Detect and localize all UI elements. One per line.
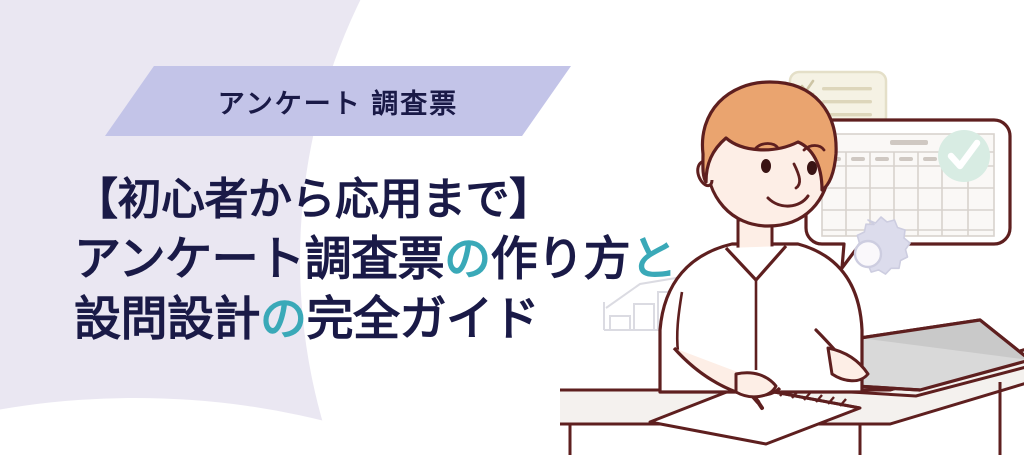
approved-check-badge-icon [938,130,990,182]
category-banner: アンケート 調査票 [105,66,571,136]
page-title-line-2-part-a: アンケート調査票 [74,232,444,285]
category-banner-label: アンケート 調査票 [218,82,458,121]
hero-banner-canvas: アンケート 調査票 【初心者から応用まで】 アンケート調査票の作り方と 設問設計… [0,0,1024,455]
page-title-line-3-part-c: 完全ガイド [307,292,540,345]
hero-illustration [560,30,1024,455]
page-title-line-2-part-b: の [444,232,491,285]
page-title-line-3-part-b: の [260,292,307,345]
page-title-line-3-part-a: 設問設計 [74,292,260,345]
